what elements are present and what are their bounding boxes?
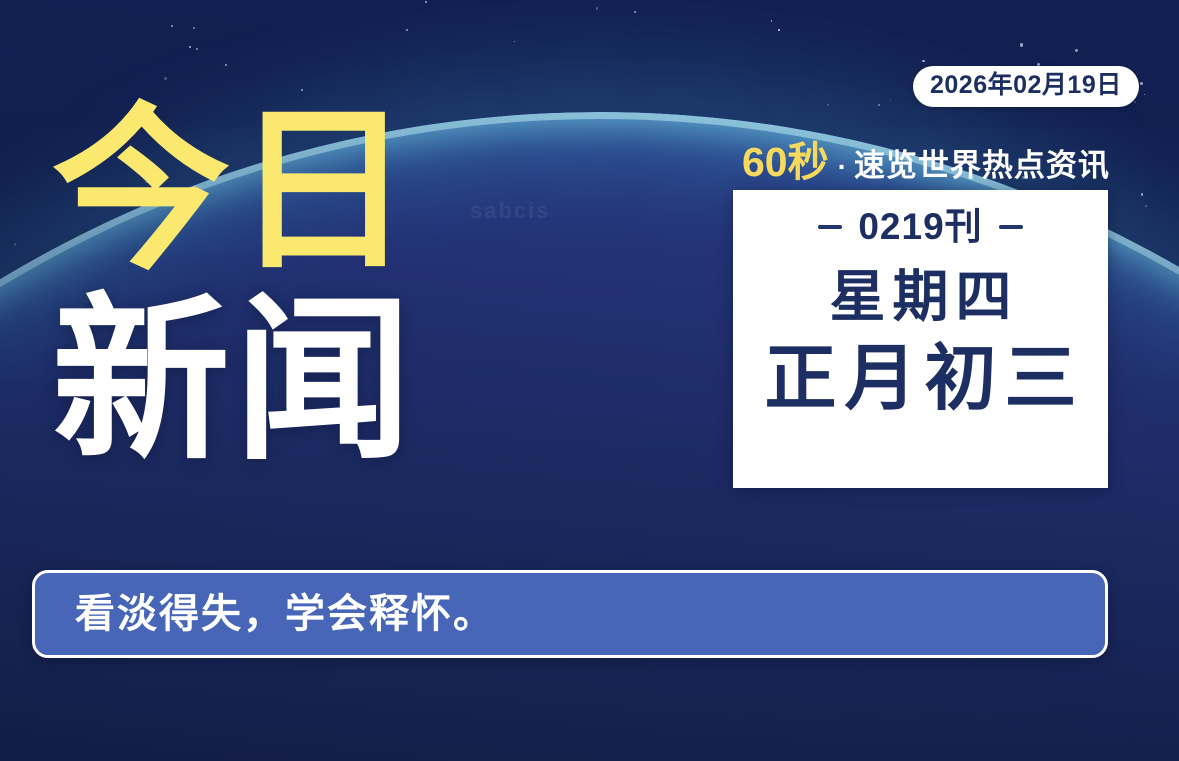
quote-text: 看淡得失，学会释怀。 bbox=[75, 594, 495, 634]
lunar-date-label: 正月初三 bbox=[756, 342, 1084, 418]
tagline: 60秒 · 速览世界热点资讯 bbox=[742, 142, 1110, 183]
poster-title: 今日 新闻 bbox=[52, 104, 472, 469]
news-poster: sabcis 2026年02月19日 今日 新闻 60秒 · 速览世界热点资讯 … bbox=[0, 0, 1179, 761]
tagline-separator-dot: · bbox=[838, 153, 847, 181]
quote-bar: 看淡得失，学会释怀。 bbox=[32, 570, 1108, 658]
dash-right-icon bbox=[999, 225, 1023, 229]
issue-number: 0219刊 bbox=[858, 207, 982, 248]
title-line-1: 今日 bbox=[52, 104, 472, 278]
title-line-2: 新闻 bbox=[52, 294, 472, 468]
dash-left-icon bbox=[818, 225, 842, 229]
issue-row: 0219刊 bbox=[818, 207, 1022, 248]
tagline-seconds: 60秒 bbox=[742, 142, 829, 183]
poster-content: sabcis 2026年02月19日 今日 新闻 60秒 · 速览世界热点资讯 … bbox=[0, 0, 1179, 761]
weekday-label: 星期四 bbox=[823, 268, 1019, 327]
date-badge: 2026年02月19日 bbox=[913, 66, 1139, 107]
watermark-text: sabcis bbox=[470, 198, 551, 224]
info-card: 0219刊 星期四 正月初三 bbox=[733, 190, 1108, 488]
tagline-text: 速览世界热点资讯 bbox=[854, 150, 1110, 181]
